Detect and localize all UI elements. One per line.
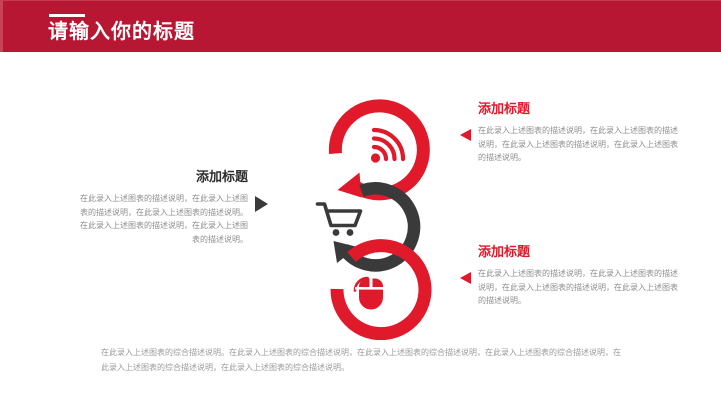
wifi-signal-icon (371, 130, 403, 163)
right-text-block-top: 添加标题 在此录入上述图表的描述说明，在此录入上述图表的描述说明，在此录入上述图… (478, 100, 678, 165)
left-triangle-marker-icon-bottom (460, 272, 471, 284)
cycle-diagram (285, 95, 445, 340)
ring-top-arrowhead (338, 173, 362, 198)
left-block-title: 添加标题 (78, 168, 248, 186)
right-block-bottom-body: 在此录入上述图表的描述说明，在此录入上述图表的描述说明，在此录入上述图表的描述说… (478, 267, 678, 308)
left-text-block: 添加标题 在此录入上述图表的描述说明，在此录入上述图表的描述说明，在此录入上述图… (78, 168, 248, 246)
left-triangle-marker-icon-top (460, 129, 471, 141)
header-banner: 请输入你的标题 (0, 0, 721, 52)
page-title: 请输入你的标题 (48, 19, 195, 45)
computer-mouse-icon (355, 277, 384, 310)
shopping-cart-icon (318, 204, 361, 236)
right-block-bottom-title: 添加标题 (478, 243, 678, 261)
right-block-top-body: 在此录入上述图表的描述说明，在此录入上述图表的描述说明，在此录入上述图表的描述说… (478, 124, 678, 165)
left-block-body: 在此录入上述图表的描述说明，在此录入上述图表的描述说明，在此录入上述图表的描述说… (78, 192, 248, 246)
footer-summary-text: 在此录入上述图表的综合描述说明。在此录入上述图表的综合描述说明，在此录入上述图表… (101, 345, 625, 375)
title-accent-rule (49, 14, 85, 17)
right-triangle-marker-icon (255, 196, 268, 212)
right-block-top-title: 添加标题 (478, 100, 678, 118)
right-text-block-bottom: 添加标题 在此录入上述图表的描述说明，在此录入上述图表的描述说明，在此录入上述图… (478, 243, 678, 308)
